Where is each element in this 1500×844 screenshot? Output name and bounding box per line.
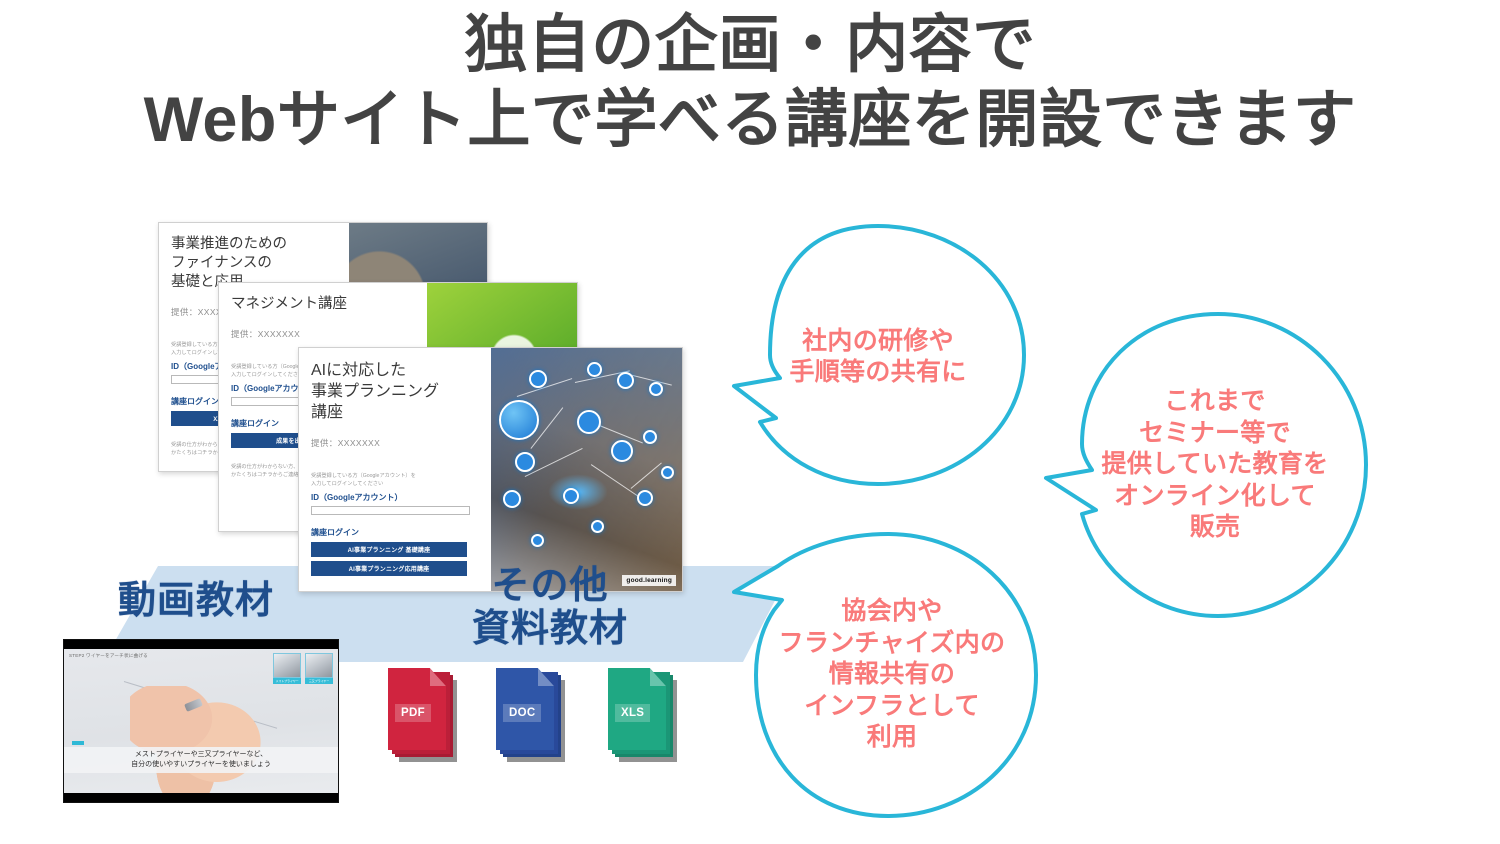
bubble-outline-shape — [1040, 310, 1370, 620]
search-node-icon — [563, 488, 579, 504]
person-node-icon — [661, 466, 674, 479]
xls-file-icon[interactable]: XLS — [608, 668, 670, 754]
course-card-stack: 事業推進のためのファイナンスの基礎と応用 提供：XXXXXXX 受講登録している… — [150, 222, 690, 582]
cloud-node-icon — [611, 440, 633, 462]
card-note: 受講登録している方（Googleアカウント）を入力してログインしてください — [311, 473, 481, 489]
video-letterbox-bottom — [64, 793, 338, 802]
xls-label: XLS — [615, 704, 650, 722]
document-file-icons: PDF DOC XLS — [388, 668, 678, 773]
globe-node-icon — [515, 452, 535, 472]
card-course-button-advanced[interactable]: AI事業プランニング応用講座 — [311, 561, 467, 576]
title-line-1: 独自の企画・内容で — [0, 10, 1500, 81]
thumbnail-item[interactable]: 三又プライヤー — [305, 653, 333, 684]
speech-bubble-internal-training: 社内の研修や 手順等の共有に — [728, 222, 1028, 492]
video-subtitle-line1: メストプライヤーや三又プライヤーなど、 — [64, 750, 338, 760]
bubble-outline-shape — [728, 222, 1028, 492]
label-other-materials-line1: その他 — [455, 565, 645, 608]
gear2-node-icon — [591, 520, 604, 533]
video-step-label: STEP2 ワイヤーをアーチ状に曲げる — [69, 653, 148, 659]
pliers-a-icon — [273, 653, 301, 678]
card-title: マネジメント講座 — [231, 295, 417, 314]
target-node-icon — [531, 534, 544, 547]
thumbnail-item[interactable]: メストプライヤー — [273, 653, 301, 684]
card-provider: 提供：XXXXXXX — [311, 437, 481, 449]
card-hero-image: good.learning — [491, 348, 683, 591]
network-node-icon — [529, 370, 547, 388]
share-node-icon — [637, 490, 653, 506]
pdf-label: PDF — [395, 704, 431, 722]
pdf-file-icon[interactable]: PDF — [388, 668, 450, 754]
video-subtitle: メストプライヤーや三又プライヤーなど、 自分の使いやすいプライヤーを使いましょう — [64, 747, 338, 773]
video-subtitle-line2: 自分の使いやすいプライヤーを使いましょう — [64, 760, 338, 770]
card-id-input[interactable] — [311, 506, 470, 515]
card-body: AIに対応した事業プランニング講座 提供：XXXXXXX 受講登録している方（G… — [299, 348, 491, 591]
gear-node-icon — [499, 400, 539, 440]
title-line-2: Webサイト上で学べる講座を開設できます — [0, 85, 1500, 156]
wave-node-icon — [503, 490, 521, 508]
progress-tick — [72, 741, 84, 745]
card-title: AIに対応した事業プランニング講座 — [311, 360, 481, 423]
thumbnail-caption: 三又プライヤー — [305, 678, 333, 684]
label-other-materials-line2: 資料教材 — [455, 608, 645, 651]
video-frame: STEP2 ワイヤーをアーチ状に曲げる メストプライヤー 三又プライヤー メスト… — [64, 649, 338, 793]
doc-label: DOC — [503, 704, 541, 722]
page-title: 独自の企画・内容で Webサイト上で学べる講座を開設できます — [0, 10, 1500, 155]
pliers-b-icon — [305, 653, 333, 678]
org-node-icon — [617, 372, 634, 389]
label-other-materials: その他 資料教材 — [455, 565, 645, 650]
speech-bubble-seminar-online: これまで セミナー等で 提供していた教育を オンライン化して 販売 — [1040, 310, 1370, 620]
doc-file-icon[interactable]: DOC — [496, 668, 558, 754]
bars-node-icon — [643, 430, 657, 444]
video-thumbnail-strip: メストプライヤー 三又プライヤー — [273, 653, 333, 684]
bubble-outline-shape — [728, 530, 1040, 820]
card-provider: 提供：XXXXXXX — [231, 328, 417, 340]
label-video-materials: 動画教材 — [118, 580, 274, 623]
dollar-node-icon — [649, 382, 663, 396]
course-card-ai-planning[interactable]: AIに対応した事業プランニング講座 提供：XXXXXXX 受講登録している方（G… — [298, 347, 683, 592]
video-letterbox-top — [64, 640, 338, 649]
speech-bubble-association-infra: 協会内や フランチャイズ内の 情報共有の インフラとして 利用 — [728, 530, 1040, 820]
slide-canvas: 独自の企画・内容で Webサイト上で学べる講座を開設できます 事業推進のためのフ… — [0, 0, 1500, 844]
card-login-heading: 講座ログイン — [311, 527, 481, 538]
video-material-thumbnail[interactable]: STEP2 ワイヤーをアーチ状に曲げる メストプライヤー 三又プライヤー メスト… — [63, 639, 339, 803]
people-node-icon — [587, 362, 602, 377]
card-id-label: ID（Googleアカウント） — [311, 492, 481, 503]
thumbnail-caption: メストプライヤー — [273, 678, 301, 684]
card-course-button-basic[interactable]: AI事業プランニング 基礎講座 — [311, 542, 467, 557]
chart-node-icon — [577, 410, 601, 434]
